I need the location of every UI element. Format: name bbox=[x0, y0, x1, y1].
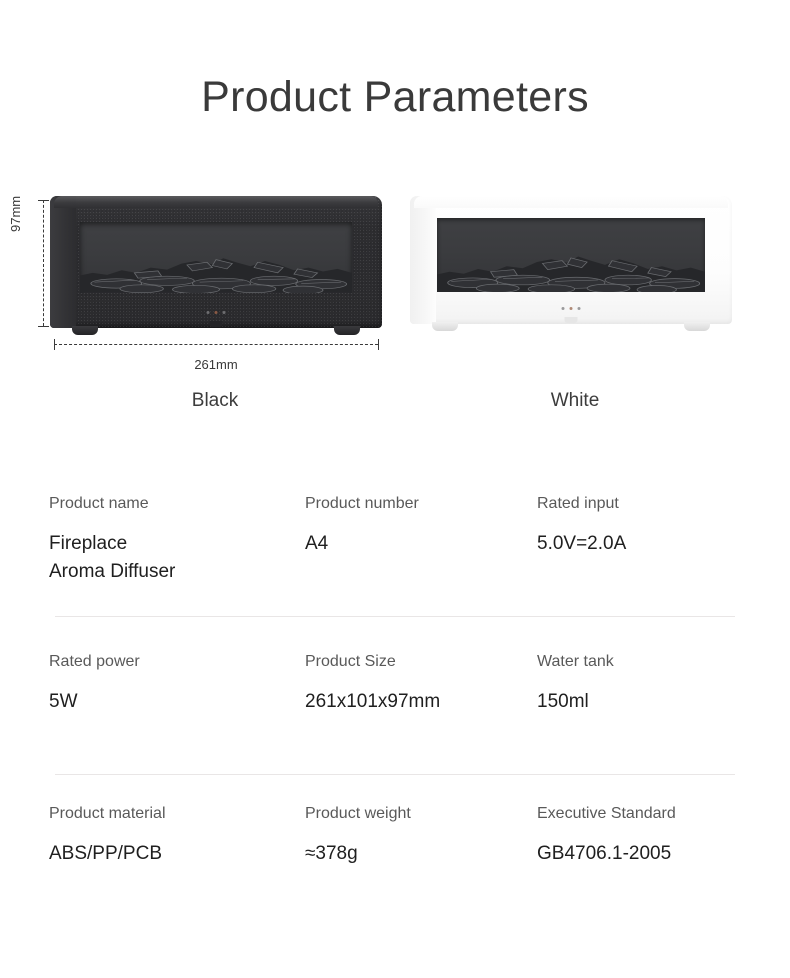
spec-value: 261x101x97mm bbox=[305, 688, 530, 716]
indicator-dot-1 bbox=[207, 311, 210, 314]
device-foot-right bbox=[334, 326, 360, 335]
spec-label: Product name bbox=[49, 494, 299, 513]
spec-row: Product name Fireplace Aroma Diffuser Pr… bbox=[0, 494, 790, 652]
spec-cell-product-material: Product material ABS/PP/PCB bbox=[49, 804, 299, 868]
indicator-dot-2 bbox=[215, 311, 218, 314]
control-indicators[interactable] bbox=[207, 311, 226, 314]
device-foot-left bbox=[432, 322, 458, 331]
spec-label: Product material bbox=[49, 804, 299, 823]
faux-logs-icon bbox=[80, 253, 352, 293]
color-caption-black: Black bbox=[135, 390, 295, 412]
spec-cell-product-weight: Product weight ≈378g bbox=[305, 804, 530, 868]
device-foot-right bbox=[684, 322, 710, 331]
spec-label: Rated input bbox=[537, 494, 772, 513]
spec-value: ≈378g bbox=[305, 840, 530, 868]
faux-logs-icon bbox=[437, 251, 705, 292]
spec-label: Executive Standard bbox=[537, 804, 772, 823]
spec-value: 5W bbox=[49, 688, 299, 716]
flame-window bbox=[437, 218, 705, 292]
device-bottom-tab bbox=[210, 321, 223, 327]
spec-label: Product weight bbox=[305, 804, 530, 823]
color-caption-white: White bbox=[495, 390, 655, 412]
spec-row: Product material ABS/PP/PCB Product weig… bbox=[0, 804, 790, 956]
spec-cell-executive-standard: Executive Standard GB4706.1-2005 bbox=[537, 804, 772, 868]
indicator-dot-1 bbox=[562, 307, 565, 310]
indicator-dot-2 bbox=[570, 307, 573, 310]
device-side-panel bbox=[50, 196, 76, 328]
product-image-black bbox=[50, 196, 382, 328]
device-top-bevel bbox=[414, 196, 728, 208]
spec-label: Product number bbox=[305, 494, 530, 513]
width-dimension-cap-right bbox=[378, 339, 379, 350]
spec-label: Water tank bbox=[537, 652, 772, 671]
spec-value: Fireplace Aroma Diffuser bbox=[49, 530, 299, 585]
spec-cell-product-number: Product number A4 bbox=[305, 494, 530, 558]
device-bottom-tab bbox=[565, 317, 578, 323]
product-image-white bbox=[410, 196, 732, 324]
indicator-dot-3 bbox=[578, 307, 581, 310]
device-side-panel bbox=[410, 196, 436, 324]
spec-label: Product Size bbox=[305, 652, 530, 671]
product-showcase bbox=[0, 196, 790, 436]
height-dimension-cap-bottom bbox=[38, 326, 49, 327]
flame-window bbox=[80, 222, 352, 293]
spec-label: Rated power bbox=[49, 652, 299, 671]
spec-cell-rated-power: Rated power 5W bbox=[49, 652, 299, 716]
device-top-bevel bbox=[54, 196, 378, 208]
height-dimension-line bbox=[43, 200, 44, 326]
spec-value: GB4706.1-2005 bbox=[537, 840, 772, 868]
width-dimension-label: 261mm bbox=[54, 357, 378, 372]
spec-table: Product name Fireplace Aroma Diffuser Pr… bbox=[0, 494, 790, 956]
spec-cell-product-size: Product Size 261x101x97mm bbox=[305, 652, 530, 716]
spec-value: ABS/PP/PCB bbox=[49, 840, 299, 868]
spec-divider bbox=[55, 616, 735, 617]
control-indicators[interactable] bbox=[562, 307, 581, 310]
spec-cell-water-tank: Water tank 150ml bbox=[537, 652, 772, 716]
spec-cell-product-name: Product name Fireplace Aroma Diffuser bbox=[49, 494, 299, 585]
spec-divider bbox=[55, 774, 735, 775]
spec-value: 150ml bbox=[537, 688, 772, 716]
indicator-dot-3 bbox=[223, 311, 226, 314]
width-dimension-line bbox=[54, 344, 378, 345]
height-dimension-label: 97mm bbox=[8, 196, 23, 232]
page-title: Product Parameters bbox=[0, 76, 790, 119]
device-foot-left bbox=[72, 326, 98, 335]
spec-value: A4 bbox=[305, 530, 530, 558]
spec-value: 5.0V=2.0A bbox=[537, 530, 772, 558]
spec-cell-rated-input: Rated input 5.0V=2.0A bbox=[537, 494, 772, 558]
spec-row: Rated power 5W Product Size 261x101x97mm… bbox=[0, 652, 790, 804]
